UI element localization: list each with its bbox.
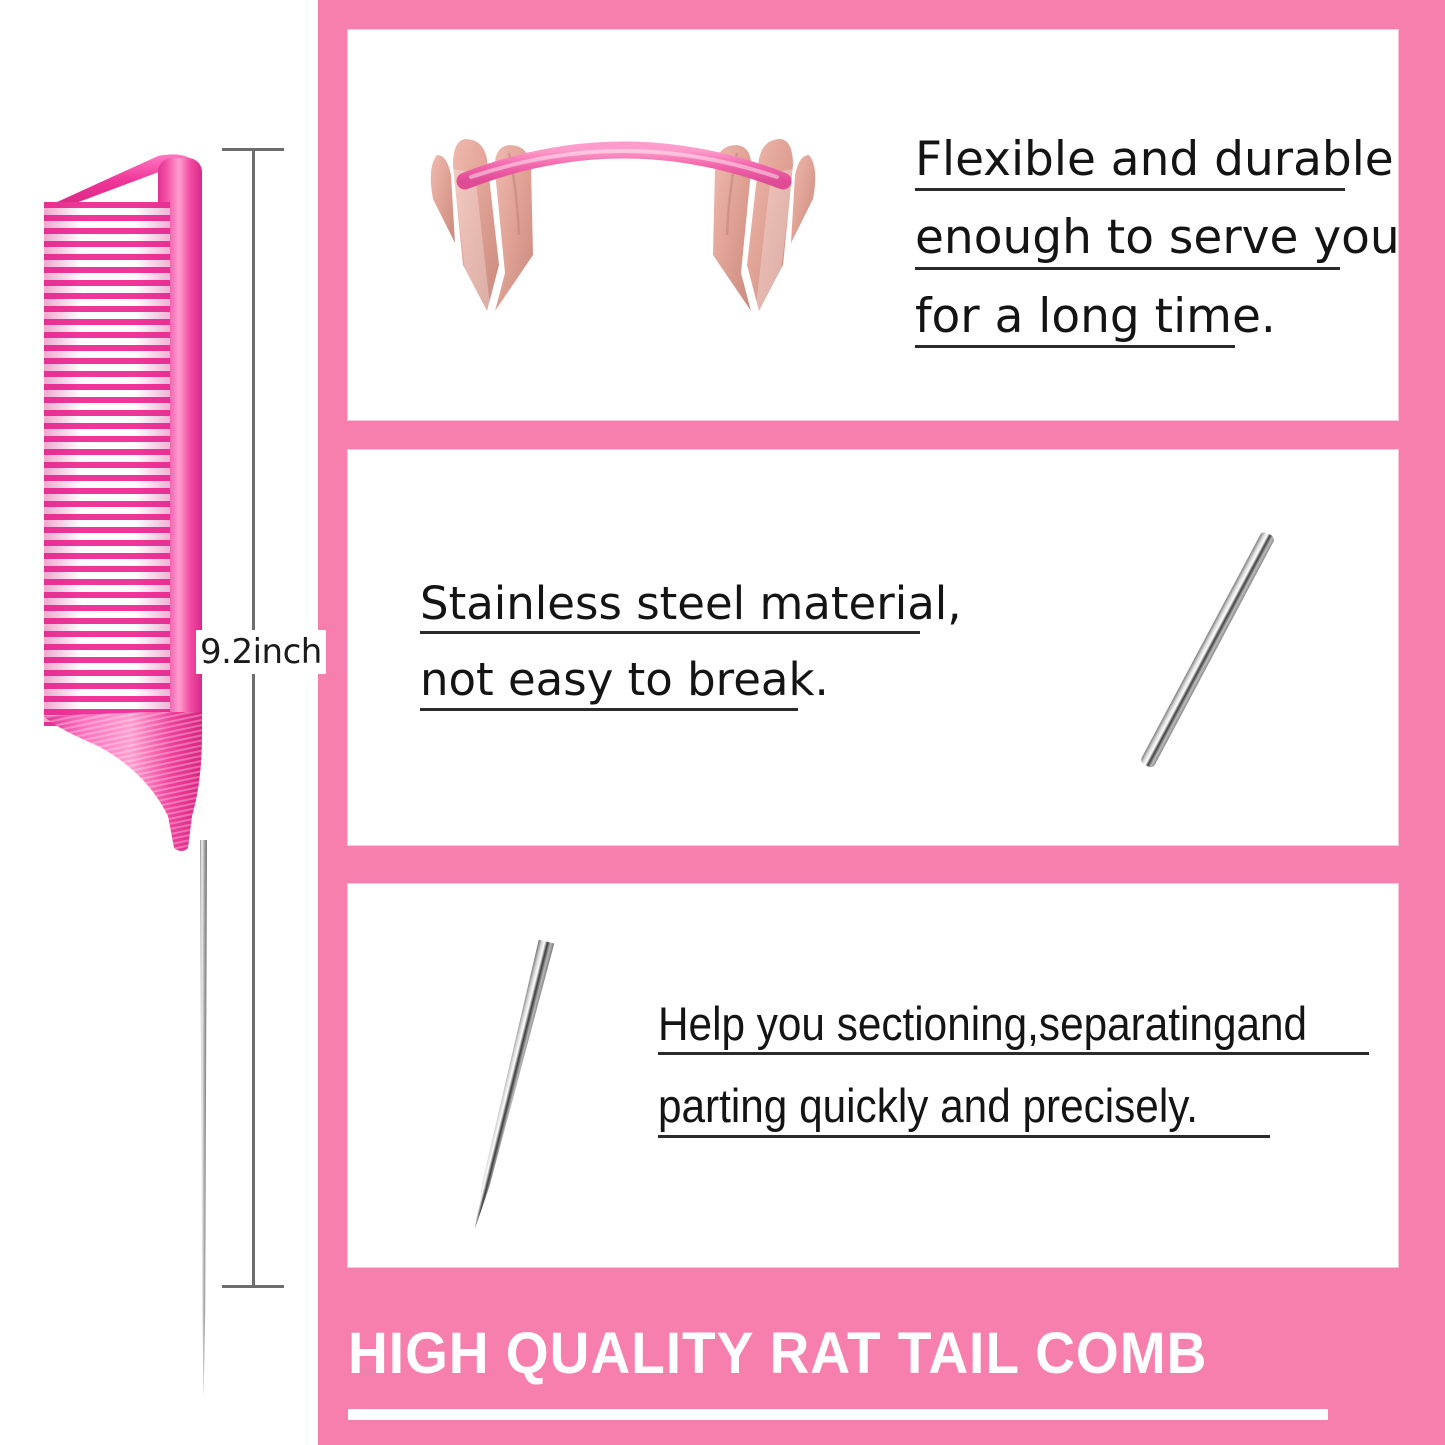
feature-line-text: Help you sectioning,separatingand (658, 999, 1369, 1052)
feature-line-text: enough to serve you (915, 213, 1400, 266)
underline-rule (915, 345, 1235, 348)
underline-rule (915, 267, 1340, 270)
feature-text-sectioning: Help you sectioning,separatingand partin… (658, 999, 1445, 1164)
feature-line-text: parting quickly and precisely. (658, 1081, 1369, 1134)
feature-line: enough to serve you (915, 213, 1400, 269)
comb-teeth (44, 202, 170, 726)
feature-line-text: Flexible and durable (915, 135, 1400, 188)
comb-handle (42, 712, 210, 852)
infographic-root: 9.2inch (0, 0, 1445, 1445)
banner-title: HIGH QUALITY RAT TAIL COMB (348, 1320, 1346, 1387)
feature-line: for a long time. (915, 292, 1400, 348)
feature-card-flexible: Flexible and durable enough to serve you… (348, 30, 1398, 420)
feature-line: Flexible and durable (915, 135, 1400, 191)
feature-line: parting quickly and precisely. (658, 1081, 1369, 1137)
feature-line: Stainless steel material, (420, 580, 962, 634)
underline-rule (420, 631, 920, 634)
feature-line-text: not easy to break. (420, 656, 962, 707)
tapered-steel-pin-image (438, 939, 598, 1239)
feature-line: not easy to break. (420, 656, 962, 710)
feature-card-sectioning: Help you sectioning,separatingand partin… (348, 884, 1398, 1267)
feature-line-text: for a long time. (915, 292, 1400, 345)
product-image-column: 9.2inch (0, 0, 318, 1445)
steel-pin-tail (197, 840, 211, 1400)
underline-rule (420, 708, 798, 711)
underline-rule (915, 188, 1345, 191)
steel-rod-image (1128, 525, 1288, 775)
underline-rule (658, 1052, 1369, 1055)
banner: HIGH QUALITY RAT TAIL COMB (348, 1320, 1398, 1420)
dimension-cap-bottom (222, 1285, 284, 1288)
feature-line-text: Stainless steel material, (420, 580, 962, 631)
feature-card-stainless: Stainless steel material, not easy to br… (348, 450, 1398, 845)
hands-bending-comb-image (413, 115, 833, 335)
banner-underline (348, 1409, 1328, 1420)
feature-text-flexible: Flexible and durable enough to serve you… (915, 135, 1400, 370)
feature-line: Help you sectioning,separatingand (658, 999, 1369, 1055)
rat-tail-comb-illustration (30, 140, 220, 1300)
dimension-line (252, 148, 255, 1288)
dimension-label: 9.2inch (196, 630, 326, 674)
feature-text-stainless: Stainless steel material, not easy to br… (420, 580, 962, 733)
underline-rule (658, 1135, 1270, 1138)
